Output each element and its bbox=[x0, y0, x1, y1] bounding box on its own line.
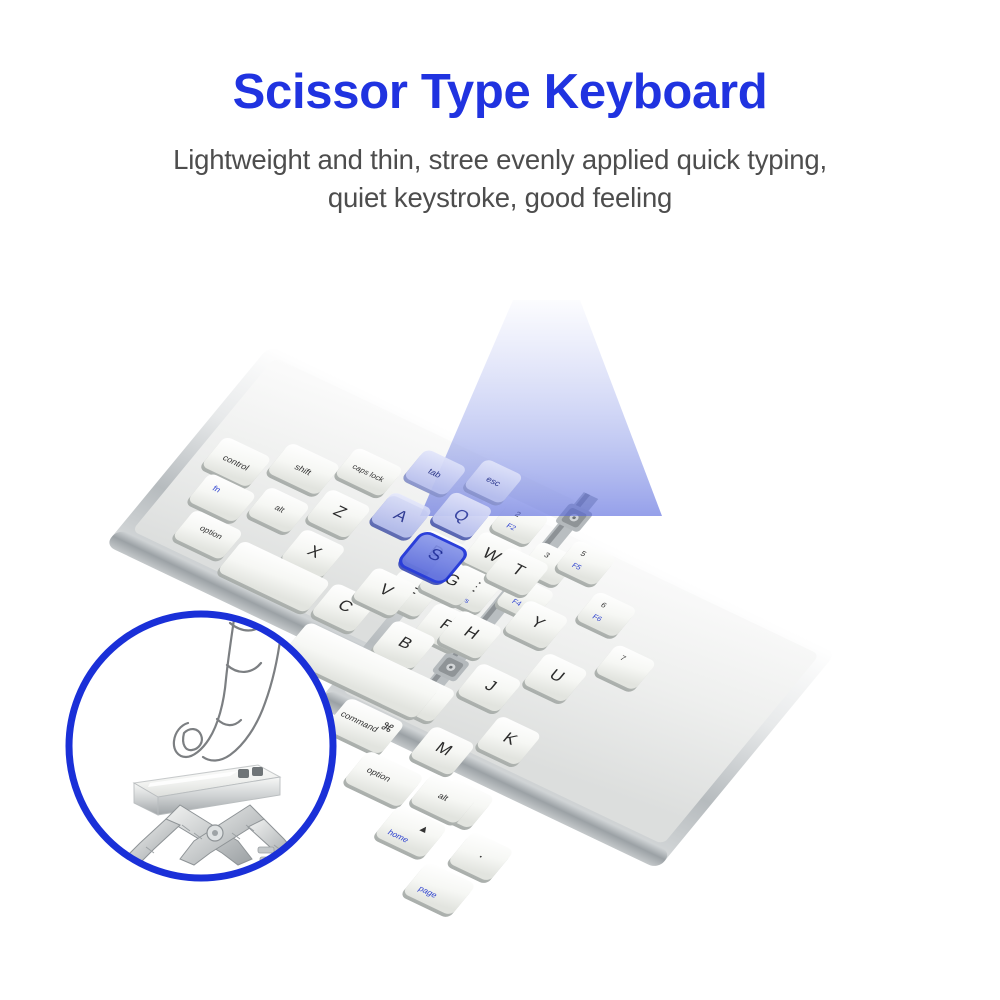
subtitle-line-2: quiet keystroke, good feeling bbox=[0, 179, 1000, 217]
subtitle-line-1: Lightweight and thin, stree evenly appli… bbox=[0, 141, 1000, 179]
keypress-light-beam bbox=[420, 300, 662, 516]
page-subtitle: Lightweight and thin, stree evenly appli… bbox=[0, 119, 1000, 217]
page-title: Scissor Type Keyboard bbox=[0, 0, 1000, 119]
product-marketing-poster: esc tab Q 2 F2 bbox=[0, 0, 1000, 1000]
scissor-mechanism-inset bbox=[62, 607, 340, 885]
poster-headings: Scissor Type Keyboard Lightweight and th… bbox=[0, 0, 1000, 217]
